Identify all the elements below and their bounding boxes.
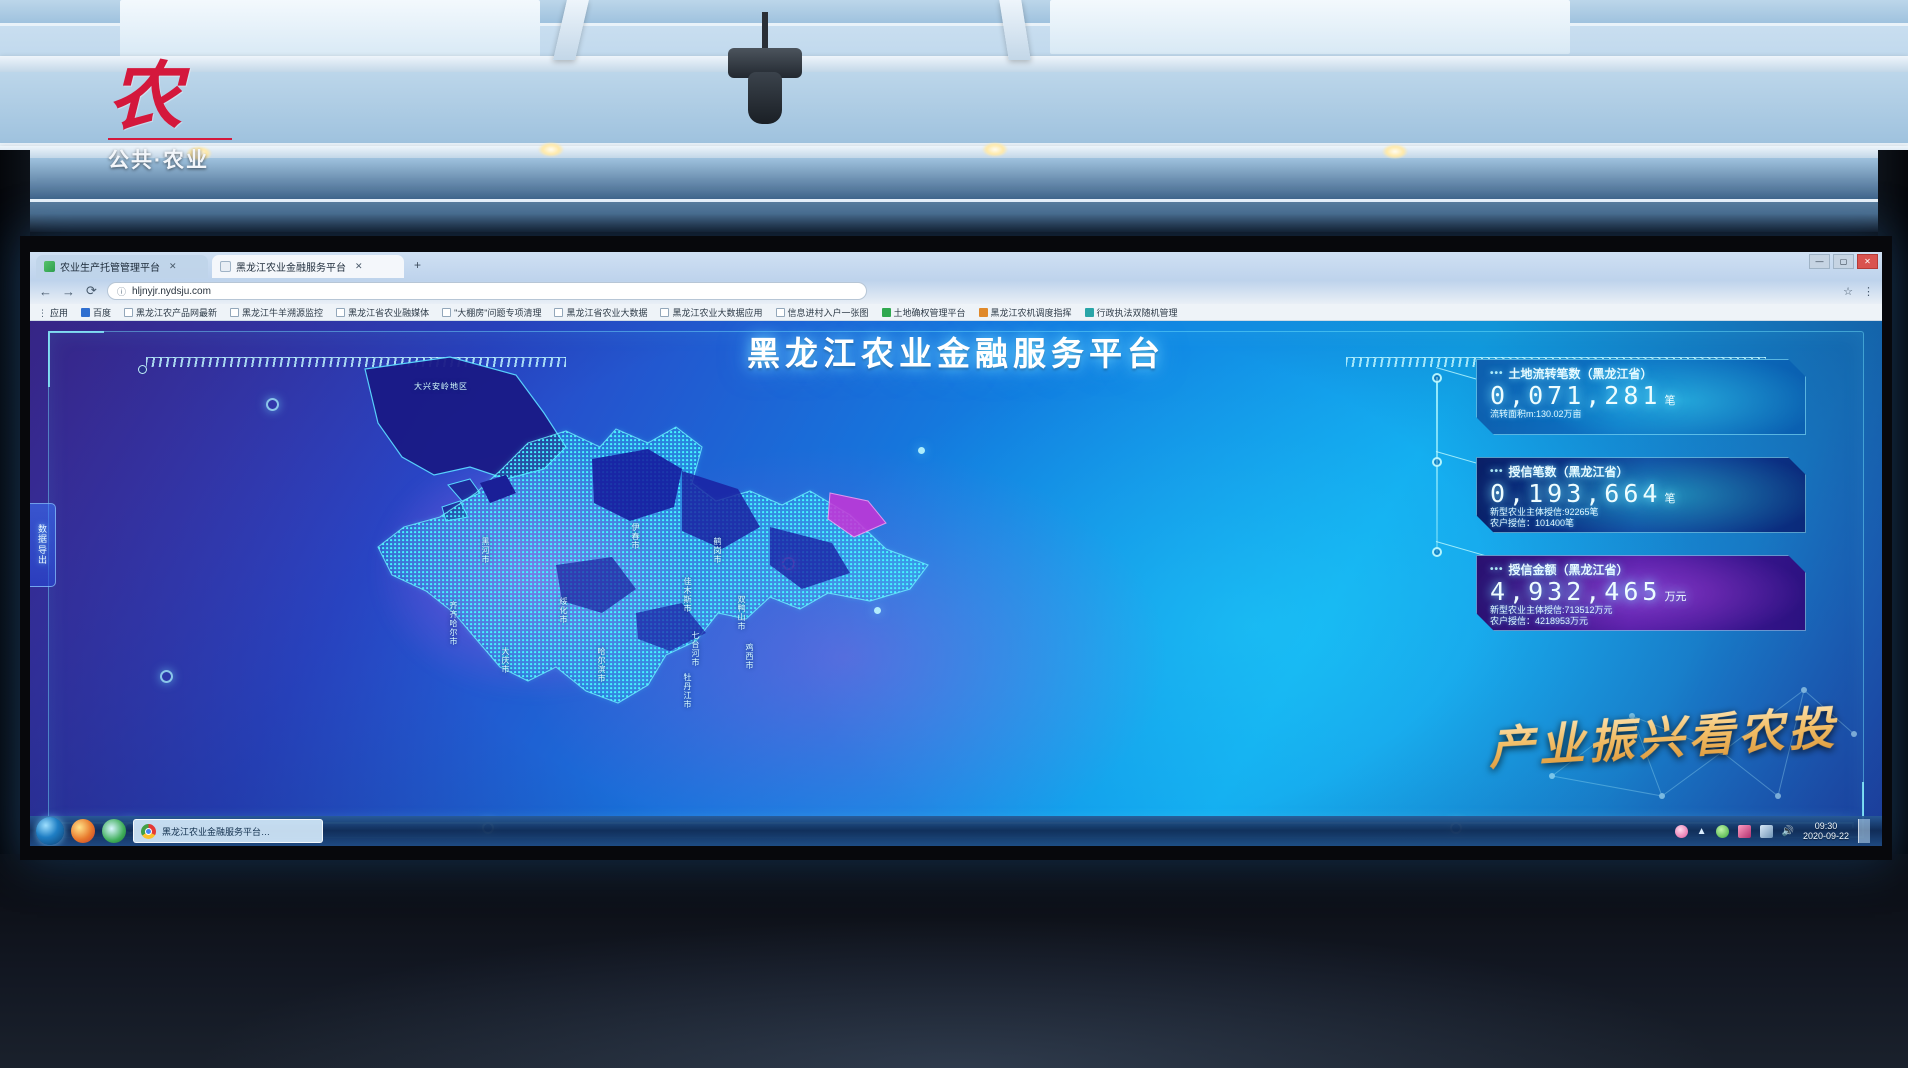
bookmark-label: 土地确权管理平台 [894,306,966,319]
page-icon [230,308,239,317]
bookmark-item[interactable]: 黑龙江农机调度指挥 [979,306,1072,319]
bookmark-item[interactable]: 黑龙江省农业大数据 [554,306,647,319]
skylight [120,0,540,58]
bookmark-label: 行政执法双随机管理 [1097,306,1178,319]
kpi-unit: 万元 [1664,591,1686,603]
chrome-menu-icon[interactable]: ⋮ [1863,285,1874,298]
omnibox-row: ← → ⟳ ⓘ hljnyjr.nydsju.com ☆ ⋮ [30,278,1882,304]
apps-grid-icon: ⋮⋮⋮ [38,308,47,317]
bookmark-item[interactable]: 行政执法双随机管理 [1085,306,1178,319]
page-icon [336,308,345,317]
kpi-bullet-icon: ••• [1490,466,1504,477]
clock-time: 09:30 [1803,821,1849,831]
bookmark-item[interactable]: 黑龙江牛羊溯源监控 [230,306,323,319]
kpi-unit: 笔 [1664,493,1675,505]
browser-tab-1[interactable]: 农业生产托管管理平台 ✕ [36,255,208,278]
map-label: 伊春市 [630,523,641,550]
tab-title: 农业生产托管管理平台 [60,259,160,274]
bookmark-item[interactable]: 土地确权管理平台 [882,306,966,319]
back-icon[interactable]: ← [38,284,53,299]
orange-icon [979,308,988,317]
bookmark-item[interactable]: 百度 [81,306,111,319]
address-value: hljnyjr.nydsju.com [132,286,211,297]
input-method-icon[interactable] [1738,825,1751,838]
minimize-icon[interactable]: — [1809,254,1830,269]
map-label: 齐齐哈尔市 [448,601,459,646]
taskbar-window-title: 黑龙江农业金融服务平台… [162,825,270,838]
ceiling-light [982,142,1008,157]
start-button-icon[interactable] [36,817,64,845]
map-label: 大庆市 [500,647,511,674]
green-tray-icon[interactable] [1716,825,1729,838]
bookmark-label: 黑龙江省农业大数据 [566,306,647,319]
bookmark-label: 信息进村入户一张图 [788,306,869,319]
channel-name: 公共·农业 [108,144,258,174]
browser-tab-2[interactable]: 黑龙江农业金融服务平台 ✕ [212,255,404,278]
deco-node [266,398,279,411]
map-label: 鸡西市 [744,643,755,670]
tab-favicon [220,261,231,272]
kpi-value: 0,193,664 [1490,479,1661,508]
bookmark-star-icon[interactable]: ☆ [1843,285,1853,298]
page-icon [776,308,785,317]
deco-node [160,670,173,683]
media-player-icon[interactable] [71,819,95,843]
safe-shield-icon[interactable] [1675,825,1688,838]
kpi-card-credit-amount[interactable]: ••• 授信金额（黑龙江省） 4,932,465万元 新型农业主体授信:7135… [1476,555,1806,631]
screenshot-root: 农 公共·农业 农业生产托管管理平台 ✕ 黑龙江农业金融服务平台 ✕ + [0,0,1908,1068]
map-label: 鹤岗市 [712,537,723,564]
browser-chrome: 农业生产托管管理平台 ✕ 黑龙江农业金融服务平台 ✕ + — ▢ ✕ ← → [30,252,1882,304]
ceiling-projector [722,12,808,124]
bookmark-label: 黑龙江农业大数据应用 [672,306,762,319]
map-label: 七台河市 [690,631,701,667]
kpi-title: 授信金额（黑龙江省） [1509,561,1629,578]
floor [0,854,1908,1068]
green-icon [882,308,891,317]
map-label: 绥化市 [558,597,569,624]
kpi-value-row: 4,932,465万元 [1490,578,1795,605]
ceiling-light [538,142,564,157]
clock-date: 2020-09-22 [1803,831,1849,841]
close-icon[interactable]: ✕ [355,261,363,272]
internet-explorer-icon[interactable] [102,819,126,843]
bookmark-label: 黑龙江省农业融媒体 [348,306,429,319]
export-label-char: 数 [38,525,47,534]
bookmark-label: 黑龙江农产品网最新 [136,306,217,319]
kpi-subtext: 新型农业主体授信:713512万元 [1490,605,1795,616]
kpi-card-land-transfer[interactable]: ••• 土地流转笔数（黑龙江省） 0,071,281笔 流转面积m:130.02… [1476,359,1806,435]
maximize-icon[interactable]: ▢ [1833,254,1854,269]
map-label: 大兴安岭地区 [414,381,468,392]
windows-taskbar: 黑龙江农业金融服务平台… ▲ 🔊 09:30 2020-09-22 [30,816,1882,846]
map-label: 佳木斯市 [682,577,693,613]
bookmark-item[interactable]: 黑龙江省农业融媒体 [336,306,429,319]
channel-watermark: 农 公共·农业 [108,62,258,192]
new-tab-icon[interactable]: + [414,258,421,272]
reload-icon[interactable]: ⟳ [84,283,99,299]
export-label-char: 据 [38,535,47,544]
ceiling-beam [0,146,1908,158]
kpi-card-credit-count[interactable]: ••• 授信笔数（黑龙江省） 0,193,664笔 新型农业主体授信:92265… [1476,457,1806,533]
show-hidden-icon[interactable]: ▲ [1697,826,1707,837]
bookmark-item[interactable]: 黑龙江农业大数据应用 [660,306,762,319]
map-label: 哈尔滨市 [596,647,607,683]
kpi-title-row: ••• 授信金额（黑龙江省） [1490,561,1795,578]
kpi-subtext: 新型农业主体授信:92265笔 [1490,507,1795,518]
window-controls: — ▢ ✕ [1809,254,1878,269]
ceiling-beam [0,56,1908,72]
spine-node [1432,547,1442,557]
show-desktop-button[interactable] [1858,819,1870,843]
kpi-value-row: 0,193,664笔 [1490,480,1795,507]
kpi-subtext: 流转面积m:130.02万亩 [1490,409,1795,420]
export-label-char: 导 [38,546,47,555]
map-label: 黑河市 [480,537,491,564]
kpi-value: 0,071,281 [1490,381,1661,410]
title-node-left [138,365,147,374]
kpi-unit: 笔 [1664,395,1675,407]
forward-icon[interactable]: → [61,284,76,299]
ceiling-panel [0,72,1908,146]
bookmark-label: 黑龙江农机调度指挥 [991,306,1072,319]
channel-logo-mark: 农 [108,62,258,132]
kpi-value-row: 0,071,281笔 [1490,382,1795,409]
bookmarks-bar: ⋮⋮⋮ 应用 百度 黑龙江农产品网最新 黑龙江牛羊溯源监控 黑龙江省 [30,304,1882,321]
address-bar[interactable]: ⓘ hljnyjr.nydsju.com [107,282,867,300]
baidu-icon [81,308,90,317]
kpi-title-row: ••• 授信笔数（黑龙江省） [1490,463,1795,480]
kpi-subtext: 农户授信：101400笔 [1490,518,1795,529]
spine-node [1432,457,1442,467]
volume-icon[interactable]: 🔊 [1782,826,1794,837]
kpi-title: 土地流转笔数（黑龙江省） [1509,365,1653,382]
network-icon[interactable] [1760,825,1773,838]
teal-icon [1085,308,1094,317]
taskbar-clock[interactable]: 09:30 2020-09-22 [1803,821,1849,842]
map-label: 牡丹江市 [682,673,693,709]
map-label: 双鸭山市 [736,595,747,631]
heilongjiang-map[interactable]: 大兴安岭地区 黑河市 齐齐哈尔市 绥化市 伊春市 鹤岗市 佳木斯市 双鸭山市 七… [330,351,950,781]
export-label-char: 出 [38,556,47,565]
close-icon[interactable]: ✕ [169,261,177,272]
export-data-button[interactable]: 数 据 导 出 [30,503,56,587]
bookmark-item[interactable]: "大棚房"问题专项清理 [442,306,541,319]
taskbar-window-chrome[interactable]: 黑龙江农业金融服务平台… [133,819,323,843]
bookmark-label: "大棚房"问题专项清理 [454,306,541,319]
bookmark-apps[interactable]: ⋮⋮⋮ 应用 [38,306,68,319]
tab-favicon [44,261,55,272]
chrome-icon [141,824,156,839]
tab-title: 黑龙江农业金融服务平台 [236,259,346,274]
bookmark-item[interactable]: 黑龙江农产品网最新 [124,306,217,319]
skylight [1050,0,1570,54]
page-icon [554,308,563,317]
kpi-title: 授信笔数（黑龙江省） [1509,463,1629,480]
system-tray: ▲ 🔊 09:30 2020-09-22 [1675,819,1876,843]
ceiling-panel [0,158,1908,202]
bookmark-item[interactable]: 信息进村入户一张图 [776,306,869,319]
kpi-bullet-icon: ••• [1490,368,1504,379]
kpi-value: 4,932,465 [1490,577,1661,606]
ceiling-light [1382,144,1408,159]
page-icon [660,308,669,317]
page-icon [124,308,133,317]
map-svg [330,351,950,781]
site-info-icon[interactable]: ⓘ [117,285,126,298]
omnibox-actions: ☆ ⋮ [1843,285,1874,298]
kpi-title-row: ••• 土地流转笔数（黑龙江省） [1490,365,1795,382]
kpi-panel: ••• 土地流转笔数（黑龙江省） 0,071,281笔 流转面积m:130.02… [1476,359,1806,653]
close-window-icon[interactable]: ✕ [1857,254,1878,269]
spine-node [1432,373,1442,383]
page-icon [442,308,451,317]
kpi-subtext: 农户授信：4218953万元 [1490,616,1795,627]
tab-strip: 农业生产托管管理平台 ✕ 黑龙江农业金融服务平台 ✕ + — ▢ ✕ [30,252,1882,278]
kpi-bullet-icon: ••• [1490,564,1504,575]
bookmark-label: 黑龙江牛羊溯源监控 [242,306,323,319]
bookmark-label: 应用 [50,306,68,319]
bookmark-label: 百度 [93,306,111,319]
